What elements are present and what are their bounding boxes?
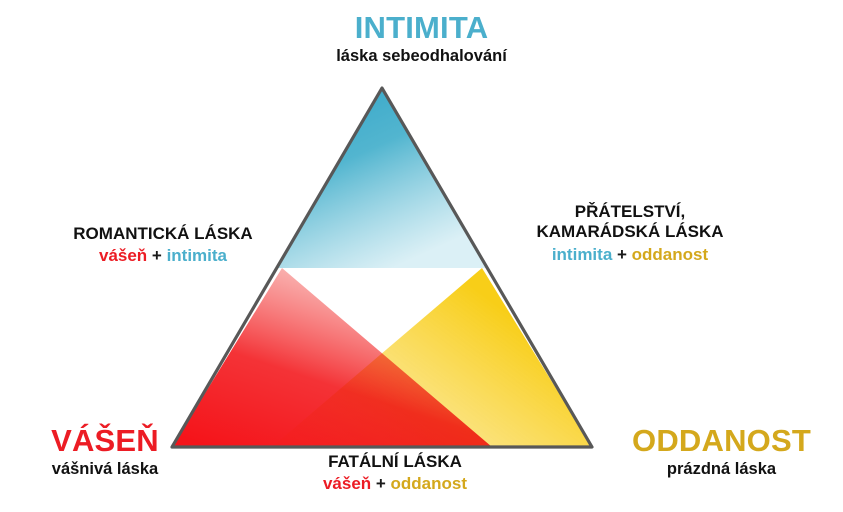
- combination-label-fatalni: FATÁLNÍ LÁSKA vášeň + oddanost: [245, 452, 545, 494]
- combination-formula-pratelstvi: intimita + oddanost: [480, 245, 780, 264]
- vertex-subtitle-oddanost: prázdná láska: [600, 460, 843, 479]
- formula-term-intimita: intimita: [167, 246, 227, 265]
- combination-formula-romanticka: vášeň + intimita: [18, 246, 308, 265]
- formula-term-oddanost: oddanost: [632, 245, 709, 264]
- formula-operator: +: [147, 246, 166, 265]
- combination-label-pratelstvi: PŘÁTELSTVÍ, KAMARÁDSKÁ LÁSKA intimita + …: [480, 202, 780, 264]
- vertex-subtitle-intimita: láska sebeodhalování: [0, 47, 843, 66]
- vertex-label-oddanost: ODDANOST prázdná láska: [600, 423, 843, 479]
- formula-operator: +: [371, 474, 390, 493]
- vertex-label-intimita: INTIMITA láska sebeodhalování: [0, 10, 843, 66]
- vertex-subtitle-vasen: vášnivá láska: [0, 460, 210, 479]
- formula-term-oddanost: oddanost: [391, 474, 468, 493]
- combination-title-pratelstvi-line1: PŘÁTELSTVÍ,: [480, 202, 780, 222]
- combination-formula-fatalni: vášeň + oddanost: [245, 474, 545, 493]
- combination-title-fatalni: FATÁLNÍ LÁSKA: [245, 452, 545, 472]
- vertex-label-vasen: VÁŠEŇ vášnivá láska: [0, 423, 210, 479]
- vertex-title-oddanost: ODDANOST: [600, 423, 843, 458]
- diagram-canvas: INTIMITA láska sebeodhalování VÁŠEŇ vášn…: [0, 0, 843, 512]
- formula-term-vasen: vášeň: [99, 246, 147, 265]
- formula-operator: +: [612, 245, 631, 264]
- combination-label-romanticka: ROMANTICKÁ LÁSKA vášeň + intimita: [18, 224, 308, 266]
- vertex-title-vasen: VÁŠEŇ: [0, 423, 210, 458]
- combination-title-pratelstvi-line2: KAMARÁDSKÁ LÁSKA: [480, 222, 780, 242]
- formula-term-intimita: intimita: [552, 245, 612, 264]
- formula-term-vasen: vášeň: [323, 474, 371, 493]
- vertex-title-intimita: INTIMITA: [0, 10, 843, 45]
- combination-title-romanticka: ROMANTICKÁ LÁSKA: [18, 224, 308, 244]
